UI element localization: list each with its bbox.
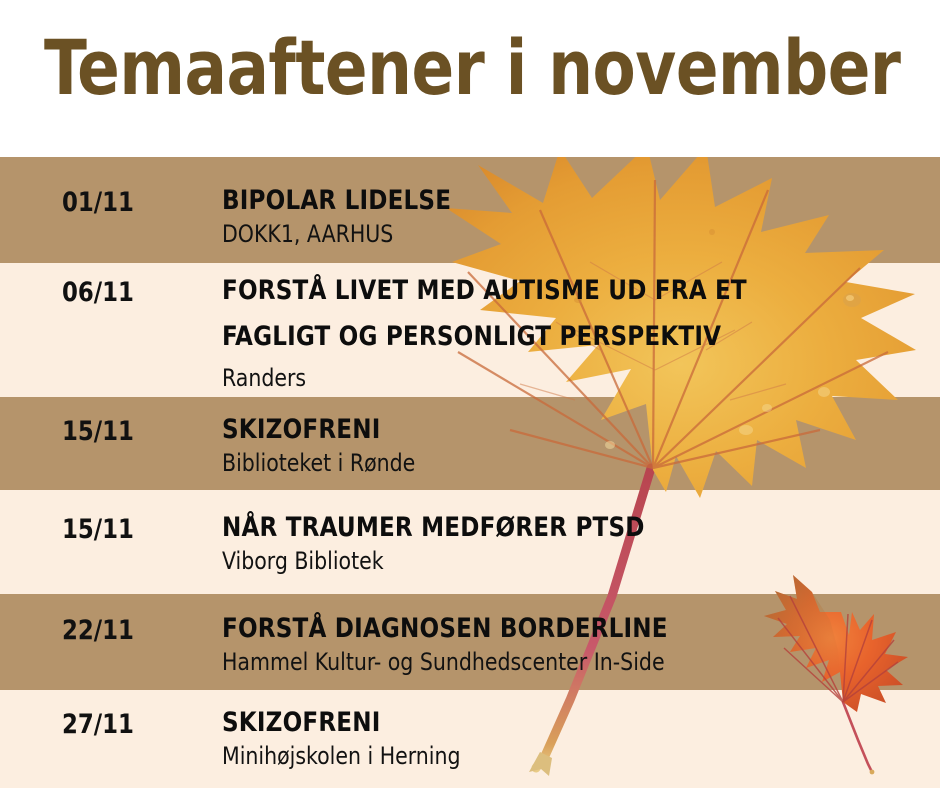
event-row-5[interactable]: 22/11 FORSTÅ DIAGNOSEN BORDERLINE Hammel… xyxy=(0,594,940,690)
event-date: 27/11 xyxy=(62,709,134,740)
event-title-line-2: FAGLIGT OG PERSONLIGT PERSPEKTIV xyxy=(222,321,887,353)
event-title: SKIZOFRENI xyxy=(222,414,887,446)
event-details: FORSTÅ DIAGNOSEN BORDERLINE Hammel Kultu… xyxy=(222,613,922,677)
event-details: SKIZOFRENI Biblioteket i Rønde xyxy=(222,414,922,478)
event-row-3[interactable]: 15/11 SKIZOFRENI Biblioteket i Rønde xyxy=(0,397,940,490)
event-date: 22/11 xyxy=(62,615,134,646)
event-title: SKIZOFRENI xyxy=(222,707,887,739)
event-title-line-1: FORSTÅ LIVET MED AUTISME UD FRA ET xyxy=(222,275,887,307)
event-venue: Hammel Kultur- og Sundhedscenter In-Side xyxy=(222,647,887,677)
event-date: 15/11 xyxy=(62,416,134,447)
page-title: Temaaftener i november xyxy=(44,22,835,114)
event-venue: DOKK1, AARHUS xyxy=(222,219,887,249)
event-venue: Biblioteket i Rønde xyxy=(222,448,887,478)
event-row-1[interactable]: 01/11 BIPOLAR LIDELSE DOKK1, AARHUS xyxy=(0,157,940,263)
event-details: FORSTÅ LIVET MED AUTISME UD FRA ET FAGLI… xyxy=(222,275,922,393)
event-title: FORSTÅ DIAGNOSEN BORDERLINE xyxy=(222,613,887,645)
event-row-2[interactable]: 06/11 FORSTÅ LIVET MED AUTISME UD FRA ET… xyxy=(0,263,940,397)
event-details: SKIZOFRENI Minihøjskolen i Herning xyxy=(222,707,922,771)
event-title: BIPOLAR LIDELSE xyxy=(222,185,887,217)
event-date: 15/11 xyxy=(62,514,134,545)
event-venue: Viborg Bibliotek xyxy=(222,546,887,576)
event-details: NÅR TRAUMER MEDFØRER PTSD Viborg Bibliot… xyxy=(222,512,922,576)
poster-canvas: Temaaftener i november 01/11 BIPOLAR LID… xyxy=(0,0,940,788)
event-title: NÅR TRAUMER MEDFØRER PTSD xyxy=(222,512,887,544)
event-date: 06/11 xyxy=(62,277,134,308)
event-date: 01/11 xyxy=(62,187,134,218)
event-row-6[interactable]: 27/11 SKIZOFRENI Minihøjskolen i Herning xyxy=(0,690,940,788)
event-row-4[interactable]: 15/11 NÅR TRAUMER MEDFØRER PTSD Viborg B… xyxy=(0,490,940,594)
event-details: BIPOLAR LIDELSE DOKK1, AARHUS xyxy=(222,185,922,249)
event-venue: Randers xyxy=(222,363,887,393)
poster-header: Temaaftener i november xyxy=(0,0,940,157)
event-venue: Minihøjskolen i Herning xyxy=(222,741,887,771)
